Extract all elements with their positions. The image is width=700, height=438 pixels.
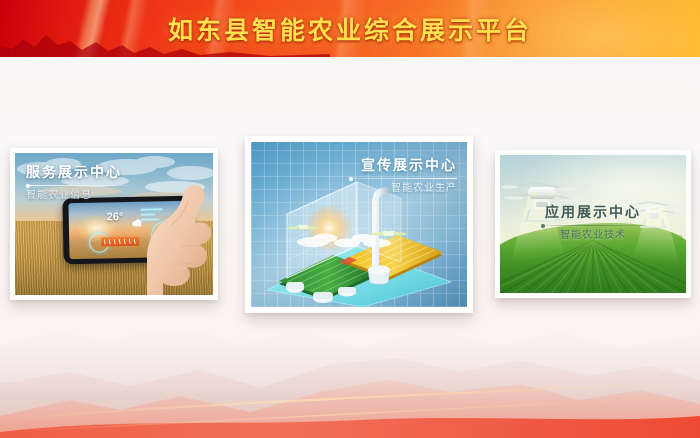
background-mountains-far [0, 300, 700, 438]
card-title: 服务展示中心 [26, 165, 130, 179]
caption-divider [26, 185, 130, 186]
header-banner: 如东县智能农业综合展示平台 [0, 0, 700, 57]
card-application-center[interactable]: 应用展示中心 智能农业技术 [495, 150, 691, 298]
card-subtitle: 智能农业信息 [26, 191, 130, 201]
card-subtitle: 智能农业技术 [500, 231, 686, 241]
card-subtitle: 智能农业生产 [349, 184, 457, 194]
card-promotion-center-caption: 宣传展示中心 智能农业生产 [349, 158, 457, 194]
card-promotion-center[interactable]: 宣传展示中心 智能农业生产 [245, 136, 473, 313]
hand-illustration [141, 183, 213, 295]
card-application-center-caption: 应用展示中心 智能农业技术 [500, 205, 686, 241]
card-service-center-caption: 服务展示中心 智能农业信息 [26, 165, 130, 201]
card-service-center[interactable]: 26° [10, 148, 218, 300]
page-title: 如东县智能农业综合展示平台 [0, 0, 700, 57]
caption-divider [541, 225, 645, 226]
data-chip [101, 237, 139, 247]
card-promotion-center-image: 宣传展示中心 智能农业生产 [251, 142, 467, 307]
caption-divider [349, 178, 457, 179]
card-service-center-image: 26° [15, 153, 213, 295]
card-title: 宣传展示中心 [349, 158, 457, 172]
card-title: 应用展示中心 [500, 205, 686, 219]
card-application-center-image: 应用展示中心 智能农业技术 [500, 155, 686, 293]
screen-root: 如东县智能农业综合展示平台 [0, 0, 700, 438]
temperature-readout: 26° [107, 211, 124, 223]
